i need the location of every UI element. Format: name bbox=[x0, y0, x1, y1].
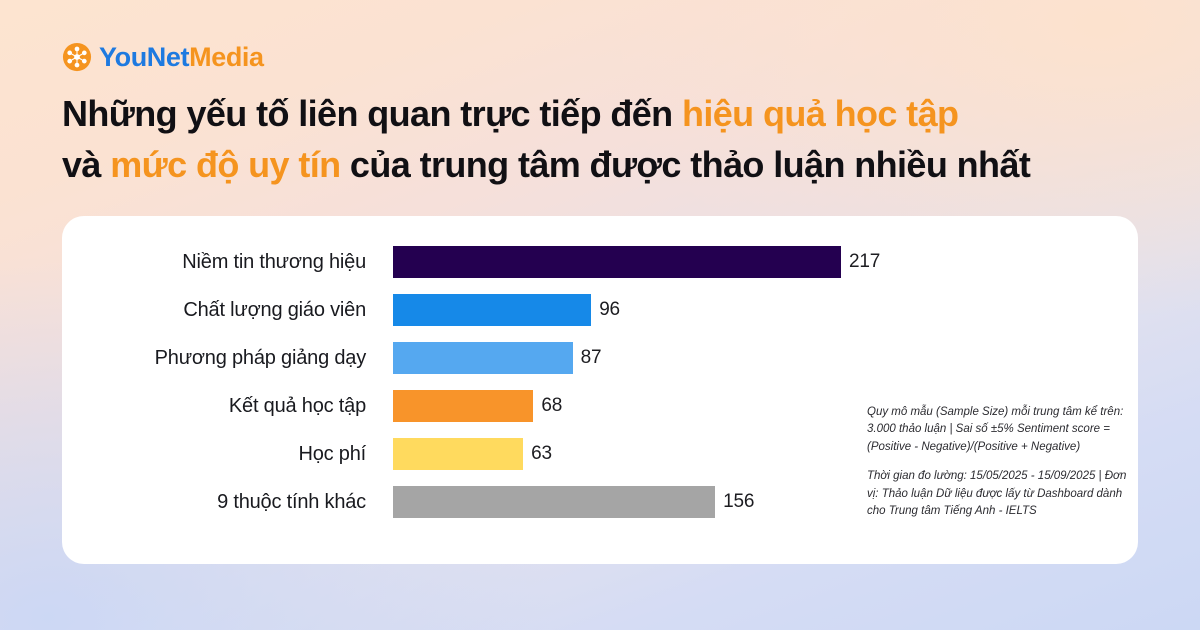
bar-value-label: 68 bbox=[541, 395, 562, 417]
bar-segment bbox=[393, 246, 841, 278]
infographic-page: YouNetMedia Những yếu tố liên quan trực … bbox=[0, 0, 1200, 630]
bar-value-label: 87 bbox=[581, 347, 602, 369]
bar-track: 217 bbox=[393, 238, 1138, 286]
bar-category-label: Phương pháp giảng dạy bbox=[62, 347, 366, 370]
bar-segment bbox=[393, 438, 523, 470]
younet-network-circle-icon bbox=[62, 42, 92, 72]
bar-category-label: Niềm tin thương hiệu bbox=[62, 251, 366, 274]
bar-category-label: Học phí bbox=[62, 443, 366, 466]
chart-row: Niềm tin thương hiệu 217 bbox=[62, 238, 1138, 286]
footnote-sample-size: Quy mô mẫu (Sample Size) mỗi trung tâm k… bbox=[867, 404, 1132, 456]
headline-line2-plain-b: của trung tâm được thảo luận nhiều nhất bbox=[341, 144, 1031, 185]
bar-value-label: 217 bbox=[849, 251, 880, 273]
bar-track: 87 bbox=[393, 334, 1138, 382]
brand-wordmark: YouNetMedia bbox=[99, 44, 264, 71]
bar-value-label: 96 bbox=[599, 299, 620, 321]
bar-value-label: 63 bbox=[531, 443, 552, 465]
chart-row: Chất lượng giáo viên 96 bbox=[62, 286, 1138, 334]
bar-value-label: 156 bbox=[723, 491, 754, 513]
headline-line1-plain: Những yếu tố liên quan trực tiếp đến bbox=[62, 93, 682, 134]
brand-logo: YouNetMedia bbox=[62, 42, 264, 72]
headline-line1-accent: hiệu quả học tập bbox=[682, 93, 958, 134]
bar-segment bbox=[393, 390, 533, 422]
chart-row: Phương pháp giảng dạy 87 bbox=[62, 334, 1138, 382]
brand-name-you: You bbox=[99, 42, 147, 72]
footnote-period-source: Thời gian đo lường: 15/05/2025 - 15/09/2… bbox=[867, 468, 1132, 520]
brand-name-net: Net bbox=[147, 42, 189, 72]
bar-category-label: Chất lượng giáo viên bbox=[62, 299, 366, 322]
bar-segment bbox=[393, 294, 591, 326]
chart-card: Niềm tin thương hiệu 217 Chất lượng giáo… bbox=[62, 216, 1138, 564]
footnotes: Quy mô mẫu (Sample Size) mỗi trung tâm k… bbox=[867, 404, 1132, 521]
bar-category-label: 9 thuộc tính khác bbox=[62, 491, 366, 514]
bar-category-label: Kết quả học tập bbox=[62, 395, 366, 418]
bar-segment bbox=[393, 486, 715, 518]
brand-name-media: Media bbox=[189, 42, 264, 72]
page-title: Những yếu tố liên quan trực tiếp đến hiệ… bbox=[62, 88, 1142, 190]
headline-line2-accent: mức độ uy tín bbox=[110, 144, 340, 185]
bar-segment bbox=[393, 342, 573, 374]
headline-line2-plain-a: và bbox=[62, 144, 110, 185]
bar-track: 96 bbox=[393, 286, 1138, 334]
